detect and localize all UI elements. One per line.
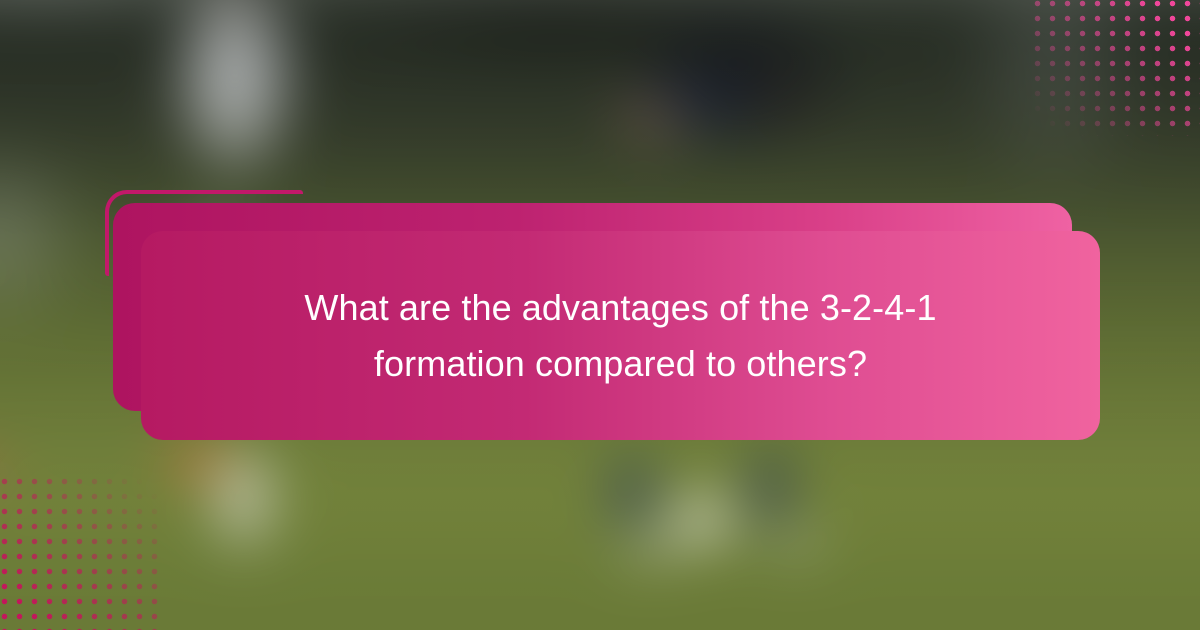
question-card: What are the advantages of the 3-2-4-1 f… [141,231,1100,440]
share-card-canvas: What are the advantages of the 3-2-4-1 f… [0,0,1200,630]
page-title: What are the advantages of the 3-2-4-1 f… [271,280,971,392]
